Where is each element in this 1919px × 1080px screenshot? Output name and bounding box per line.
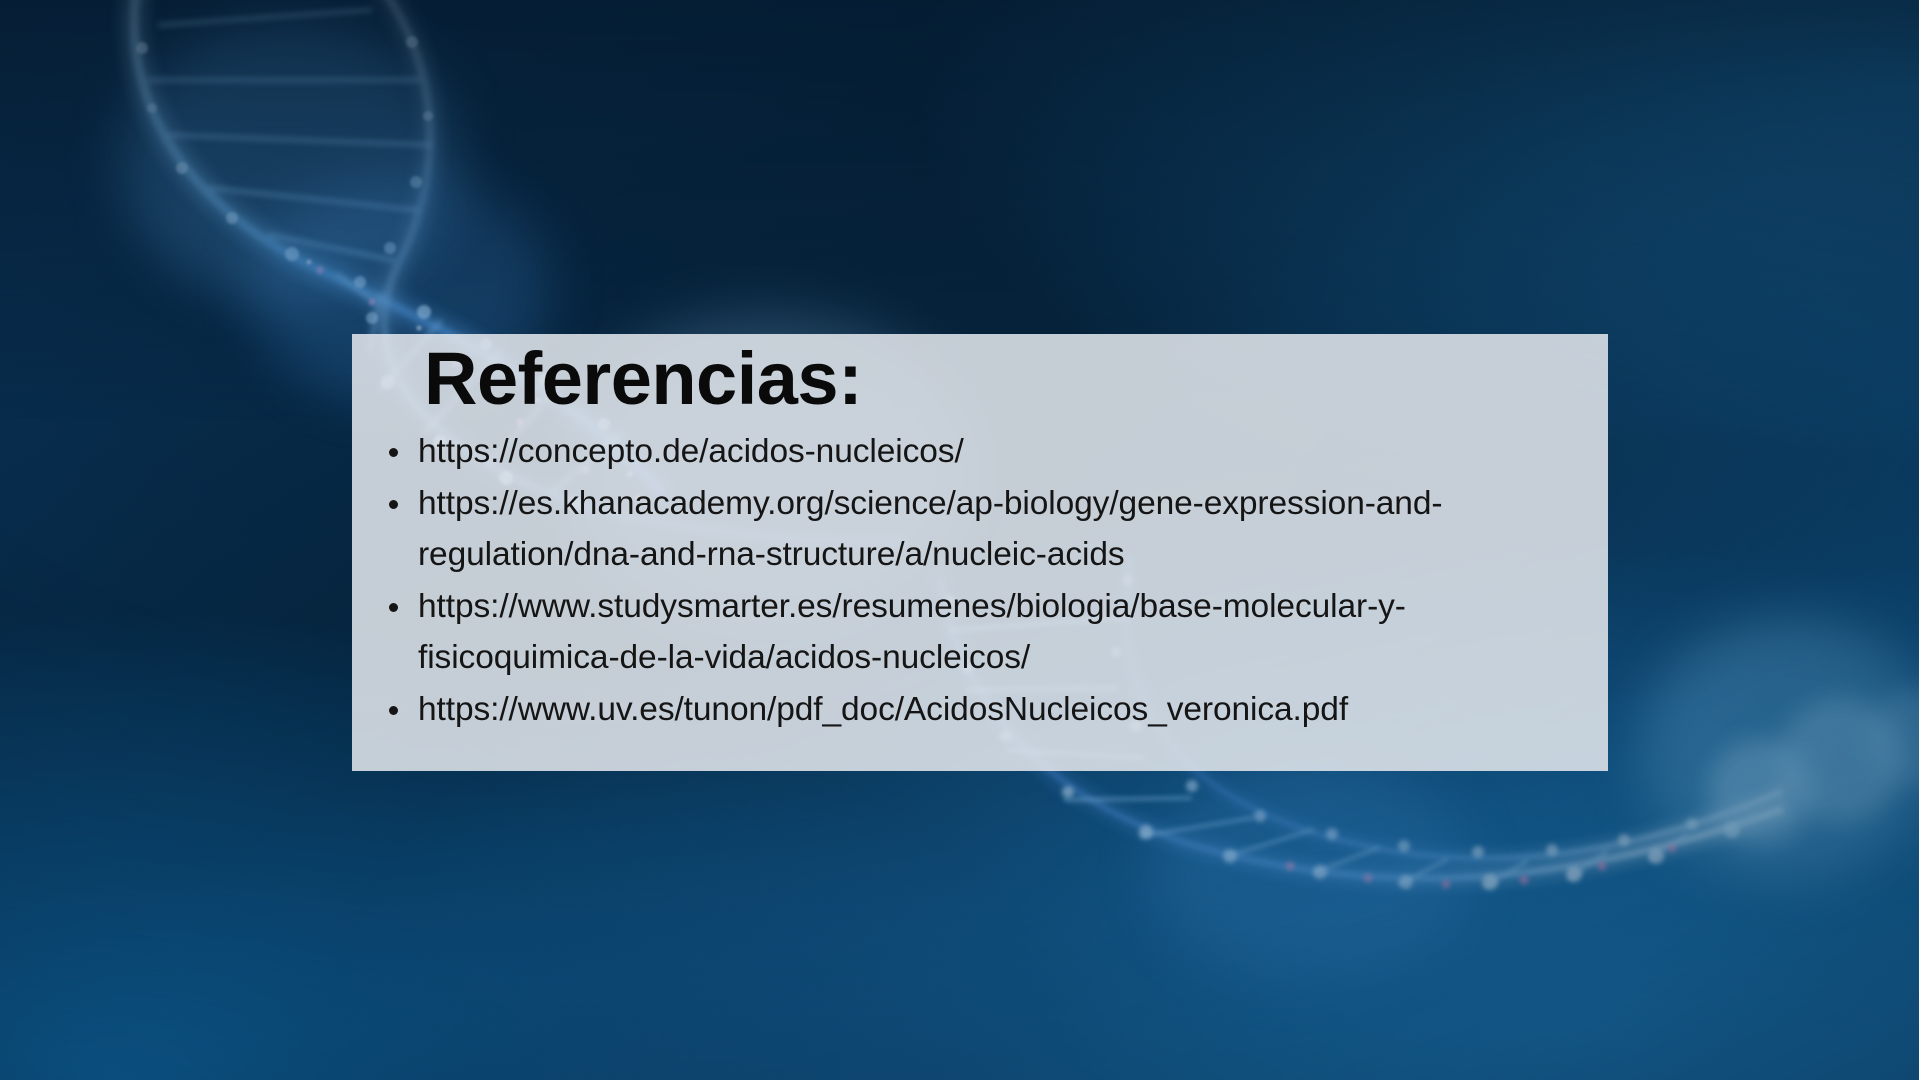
reference-list: https://concepto.de/acidos-nucleicos/ ht… <box>352 426 1608 735</box>
list-item[interactable]: https://es.khanacademy.org/science/ap-bi… <box>352 478 1608 581</box>
list-item[interactable]: https://www.studysmarter.es/resumenes/bi… <box>352 581 1608 684</box>
bullet-dot-icon <box>389 603 398 612</box>
reference-url: https://www.uv.es/tunon/pdf_doc/AcidosNu… <box>418 684 1582 736</box>
presentation-slide: Referencias: https://concepto.de/acidos-… <box>0 0 1919 1080</box>
list-item[interactable]: https://concepto.de/acidos-nucleicos/ <box>352 426 1608 478</box>
bullet-dot-icon <box>389 448 398 457</box>
list-item[interactable]: https://www.uv.es/tunon/pdf_doc/AcidosNu… <box>352 684 1608 736</box>
bullet-dot-icon <box>389 500 398 509</box>
reference-url: https://es.khanacademy.org/science/ap-bi… <box>418 478 1582 581</box>
page-title: Referencias: <box>424 342 862 416</box>
reference-url: https://concepto.de/acidos-nucleicos/ <box>418 426 1582 478</box>
reference-url: https://www.studysmarter.es/resumenes/bi… <box>418 581 1582 684</box>
bullet-dot-icon <box>389 706 398 715</box>
references-panel: Referencias: https://concepto.de/acidos-… <box>352 334 1608 771</box>
